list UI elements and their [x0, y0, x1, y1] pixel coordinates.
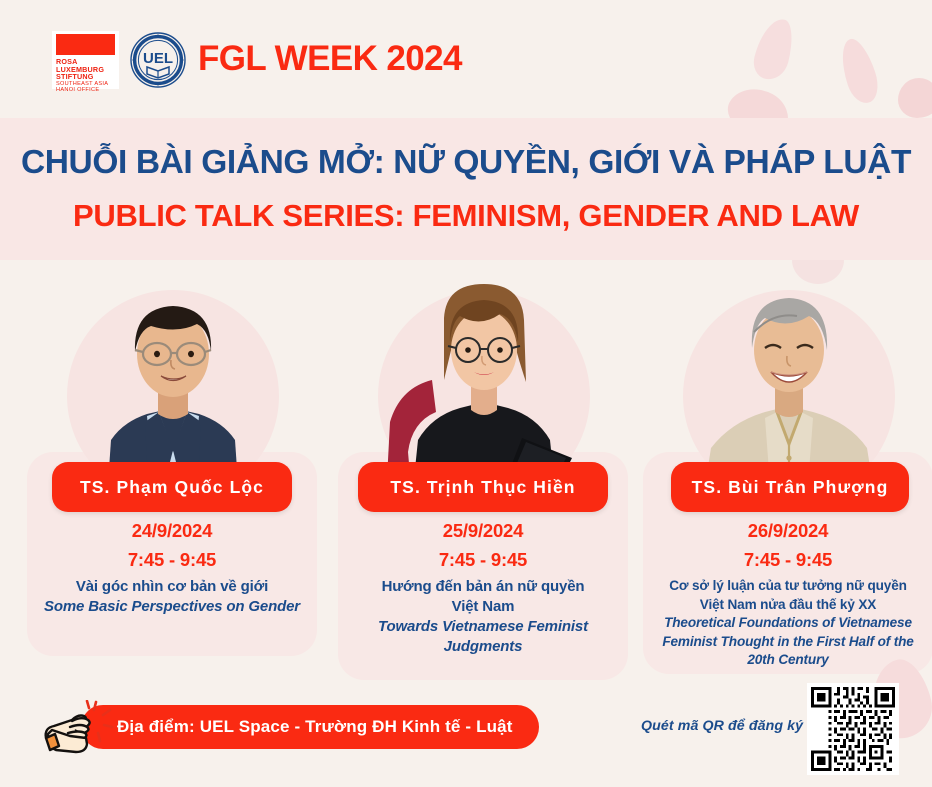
speaker-name-badge[interactable]: TS. Trịnh Thục Hiền [358, 462, 608, 512]
event-title: FGL WEEK 2024 [198, 39, 462, 79]
qr-code[interactable] [807, 683, 899, 775]
poster-title-vietnamese: CHUỖI BÀI GIẢNG MỞ: NỮ QUYỀN, GIỚI VÀ PH… [21, 144, 911, 182]
speaker-date: 25/9/2024 [344, 520, 622, 542]
svg-text:UEL: UEL [143, 50, 173, 67]
rls-logo-line4: SOUTHEAST ASIA [56, 81, 115, 88]
speaker-time: 7:45 - 9:45 [33, 549, 311, 571]
pointing-hand-icon [42, 700, 118, 756]
speaker-name-badge[interactable]: TS. Phạm Quốc Lộc [52, 462, 292, 512]
speaker-name-badge[interactable]: TS. Bùi Trân Phượng [671, 462, 909, 512]
poster-header: ROSA LUXEMBURG STIFTUNG SOUTHEAST ASIA H… [0, 0, 932, 118]
rosa-luxemburg-stiftung-logo: ROSA LUXEMBURG STIFTUNG SOUTHEAST ASIA H… [52, 31, 119, 89]
speaker-topic-english: Some Basic Perspectives on Gender [33, 597, 311, 617]
poster-title-english: PUBLIC TALK SERIES: FEMINISM, GENDER AND… [73, 198, 859, 234]
rls-red-bar-icon [56, 34, 115, 55]
speaker-details: 26/9/2024 7:45 - 9:45 Cơ sở lý luận của … [649, 520, 927, 670]
speaker-topic-vietnamese: Cơ sở lý luận của tư tưởng nữ quyềnViệt … [649, 577, 927, 614]
poster-canvas: ROSA LUXEMBURG STIFTUNG SOUTHEAST ASIA H… [0, 0, 932, 787]
speaker-details: 25/9/2024 7:45 - 9:45 Hướng đến bản án n… [344, 520, 622, 657]
speaker-details: 24/9/2024 7:45 - 9:45 Vài góc nhìn cơ bả… [33, 520, 311, 617]
speaker-topic-vietnamese: Hướng đến bản án nữ quyềnViệt Nam [344, 577, 622, 617]
speaker-topic-english: Towards Vietnamese FeministJudgments [344, 617, 622, 657]
uel-logo: UEL [130, 32, 186, 88]
venue-badge[interactable]: Địa điểm: UEL Space - Trường ĐH Kinh tế … [81, 705, 539, 749]
speaker-topic-english: Theoretical Foundations of VietnameseFem… [649, 614, 927, 670]
qr-code-icon [811, 687, 895, 771]
speaker-topic-vietnamese: Vài góc nhìn cơ bản về giới [33, 577, 311, 597]
title-band: CHUỖI BÀI GIẢNG MỞ: NỮ QUYỀN, GIỚI VÀ PH… [0, 118, 932, 260]
speaker-time: 7:45 - 9:45 [344, 549, 622, 571]
qr-instruction-label: Quét mã QR để đăng ký [641, 718, 803, 734]
rls-logo-line3: STIFTUNG [56, 73, 115, 81]
uel-seal-icon: UEL [130, 32, 186, 88]
rls-logo-line5: HANOI OFFICE [56, 87, 115, 94]
speaker-date: 24/9/2024 [33, 520, 311, 542]
speaker-date: 26/9/2024 [649, 520, 927, 542]
speaker-time: 7:45 - 9:45 [649, 549, 927, 571]
